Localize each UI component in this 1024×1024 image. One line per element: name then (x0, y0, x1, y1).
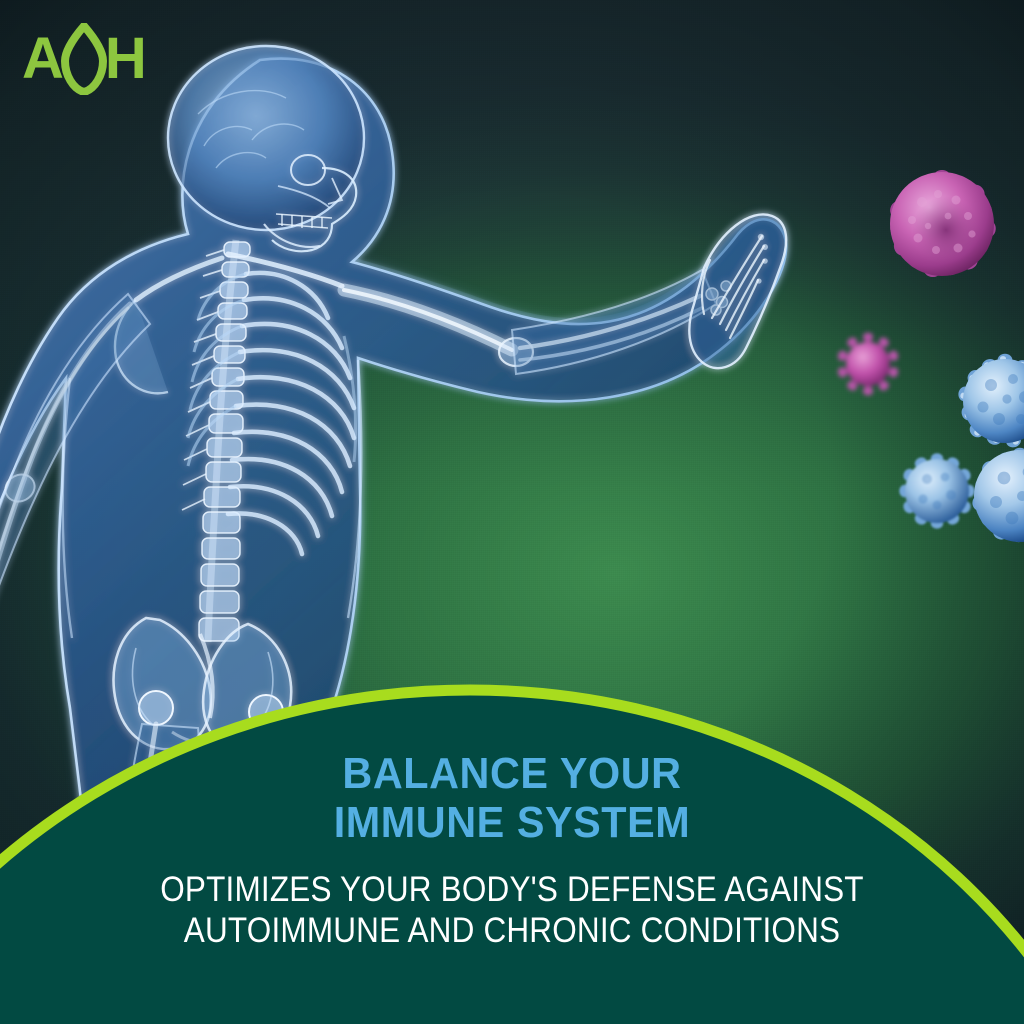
subheadline: OPTIMIZES YOUR BODY'S DEFENSE AGAINST AU… (51, 846, 973, 950)
headline-line-1: BALANCE YOUR (342, 749, 681, 798)
leaf-o-icon (61, 23, 107, 95)
virus-magenta-large (852, 128, 1024, 318)
virus-magenta-small (822, 318, 914, 410)
logo-letter-h: H (105, 30, 146, 88)
subheadline-line-2: AUTOIMMUNE AND CHRONIC CONDITIONS (51, 911, 973, 950)
xray-human-figure (0, 18, 840, 808)
message-block: BALANCE YOUR IMMUNE SYSTEM OPTIMIZES YOU… (0, 752, 1024, 950)
subheadline-line-1: OPTIMIZES YOUR BODY'S DEFENSE AGAINST (160, 870, 863, 909)
headline: BALANCE YOUR IMMUNE SYSTEM (31, 752, 994, 846)
brand-logo[interactable]: A H (22, 27, 146, 91)
virus-blue-lower-right (942, 418, 1024, 574)
logo-letter-a: A (22, 30, 63, 88)
headline-line-2: IMMUNE SYSTEM (31, 801, 994, 846)
promo-banner: BALANCE YOUR IMMUNE SYSTEM OPTIMIZES YOU… (0, 0, 1024, 1024)
